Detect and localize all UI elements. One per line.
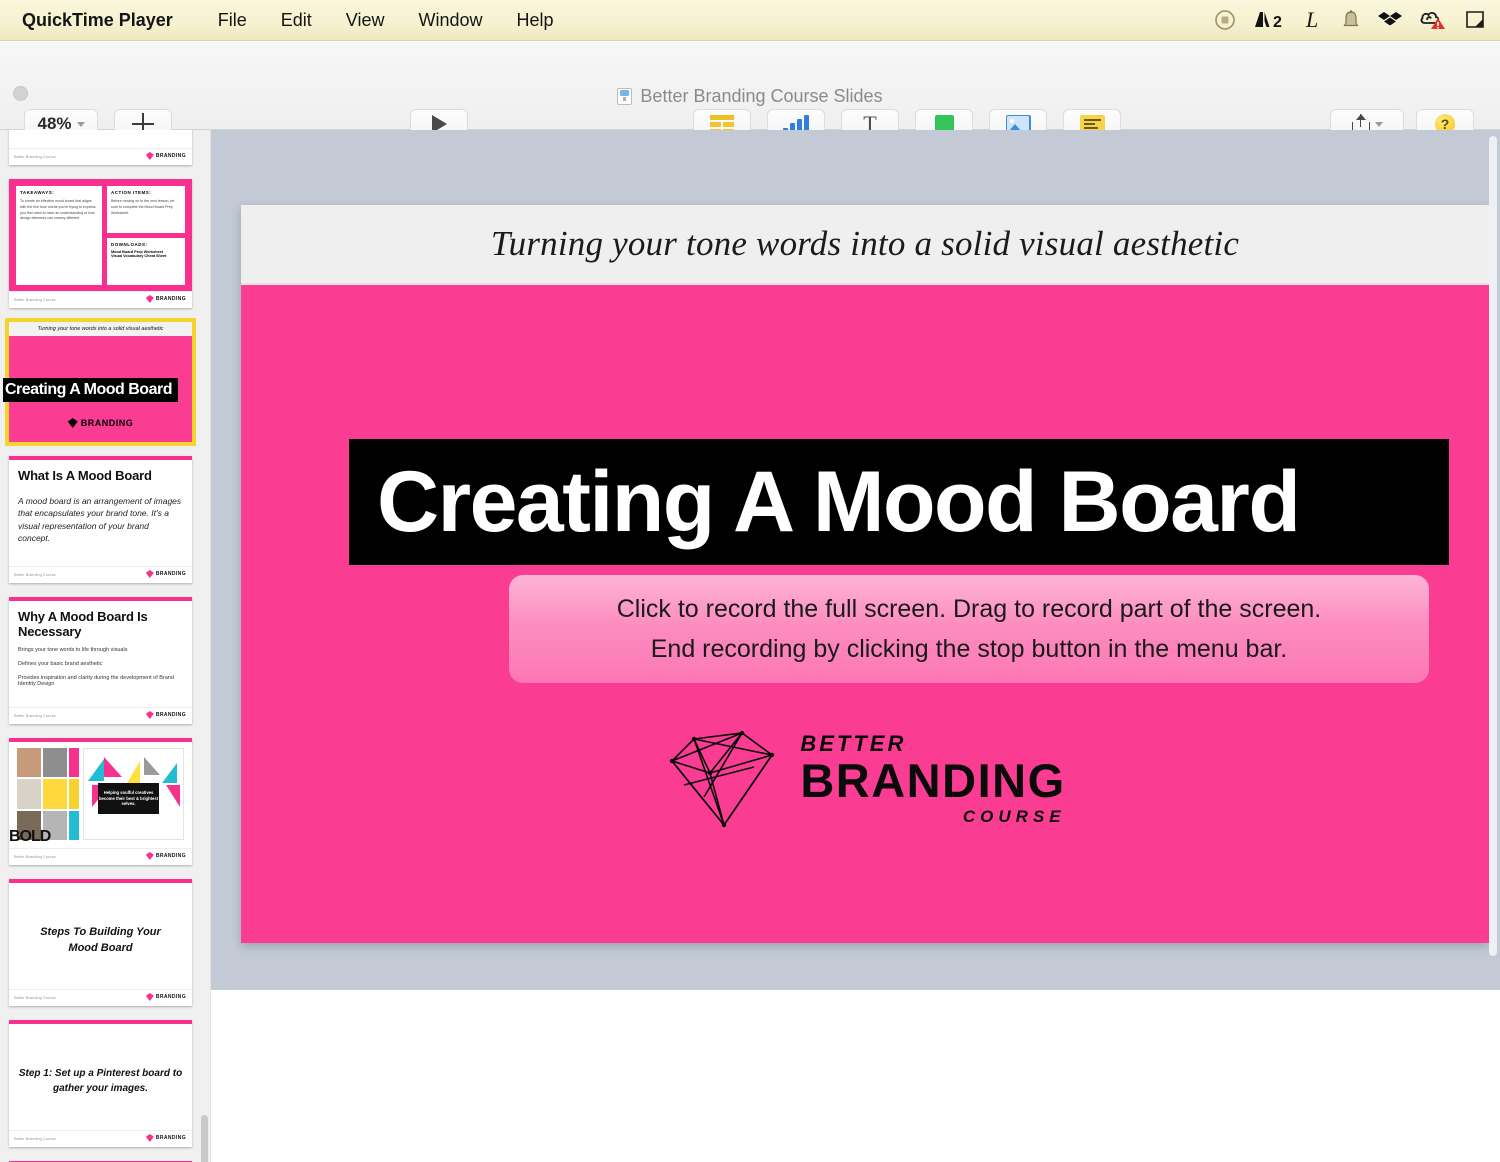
slide-header-text: Turning your tone words into a solid vis… [491,224,1239,264]
quicktime-keynote-screen: QuickTime Player File Edit View Window H… [0,0,1500,1162]
screen-mirroring-icon[interactable] [1464,9,1486,31]
svg-text:2: 2 [1273,14,1282,31]
brand-course: COURSE [963,808,1066,825]
thumb-download-2: Visual Vocabulary Cheat Sheet [111,254,181,258]
thumb-downloads-heading: DOWNLOADS: [111,242,181,247]
slide-thumbnail-why-a-mood-board[interactable]: Why A Mood Board Is Necessary Brings you… [9,597,192,724]
document-title-bar: Better Branding Course Slides [0,83,1500,109]
chevron-down-icon [1375,122,1383,127]
document-title-text: Better Branding Course Slides [640,86,882,107]
slide-thumbnail-mood-board-collage[interactable]: BOLD [9,738,192,865]
macos-menu-bar: QuickTime Player File Edit View Window H… [0,0,1500,41]
thumb-pink-body: Creating A Mood Board BRANDING [9,336,192,442]
lightroom-script-l-icon[interactable]: L [1304,8,1324,32]
brand-better: BETTER [800,733,1065,755]
thumb-footer-note: Better Branding Course [14,154,56,159]
thumb-line-2: Mood Board [68,940,132,957]
slide-pink-body: Creating A Mood Board Click to record th… [241,285,1489,943]
brand-branding: BRANDING [800,757,1065,804]
keynote-document-icon [617,88,632,105]
thumb-takeaways-heading: TAKEAWAYS: [20,190,98,195]
creative-cloud-warning-icon[interactable] [1419,9,1447,31]
slide-canvas[interactable]: Turning your tone words into a solid vis… [210,130,1500,990]
thumb-bullet-list: Brings your tone words to life through v… [18,647,183,687]
collage-badge: Helping soulful creatives become their b… [98,783,159,814]
tooltip-line-2: End recording by clicking the stop butto… [651,631,1288,667]
slide-thumbnail-list: soft neutrals Elegant gentle gold & chan… [0,130,210,1162]
thumb-bullet-2: Defines your basic brand aesthetic [18,661,183,667]
menu-app-name[interactable]: QuickTime Player [22,0,201,41]
thumb-action-heading: ACTION ITEMS: [111,190,181,195]
sidebar-scrollbar[interactable] [201,1115,208,1162]
thumb-brand-logo: BRANDING [146,1134,186,1142]
canvas-bottom-area [210,990,1500,1162]
thumb-body: A mood board is an arrangement of images… [18,495,183,544]
slide-navigator[interactable]: soft neutrals Elegant gentle gold & chan… [0,130,210,1162]
thumb-brand-logo: BRANDING [146,570,186,578]
menu-file[interactable]: File [201,0,264,41]
slide-thumbnail-steps-to-building[interactable]: Steps To Building Your Mood Board Better… [9,879,192,1006]
svg-text:L: L [1305,8,1318,32]
collage-image: BOLD [17,748,184,840]
tooltip-line-1: Click to record the full screen. Drag to… [617,591,1321,627]
slide-thumbnail-creating-a-mood-board[interactable]: Turning your tone words into a solid vis… [9,322,192,442]
thumb-brand-logo: BRANDING [146,295,186,303]
brand-logo: BETTER BRANDING COURSE [241,727,1489,831]
current-slide[interactable]: Turning your tone words into a solid vis… [241,205,1489,943]
slide-thumbnail-takeaways[interactable]: TAKEAWAYS: To create an effective mood b… [9,179,192,308]
thumb-title: What Is A Mood Board [18,468,183,483]
menu-help[interactable]: Help [500,0,571,41]
thumb-brand-logo: BRANDING [146,711,186,719]
thumb-brand-logo: BRANDING [9,418,192,428]
slide-thumbnail-what-is-a-mood-board[interactable]: What Is A Mood Board A mood board is an … [9,456,192,583]
menu-view[interactable]: View [329,0,402,41]
thumb-line-2: gather your images. [53,1081,148,1096]
menu-window[interactable]: Window [402,0,500,41]
canvas-scrollbar[interactable] [1489,136,1497,956]
slide-title-text: Creating A Mood Board [349,459,1299,545]
notifications-bell-icon[interactable] [1341,9,1361,31]
thumb-action-body: Before moving on to the next lesson, be … [111,199,181,216]
menu-edit[interactable]: Edit [264,0,329,41]
slide-thumbnail-table[interactable]: soft neutrals Elegant gentle gold & chan… [9,130,192,165]
slide-header-band: Turning your tone words into a solid vis… [241,205,1489,285]
slide-thumbnail-step-1-pinterest[interactable]: Step 1: Set up a Pinterest board to gath… [9,1020,192,1147]
thumb-bullet-3: Provides inspiration and clarity during … [18,675,183,687]
thumb-title-text: Creating A Mood Board [3,381,172,399]
collage-badge-text: Helping soulful creatives become their b… [98,790,159,807]
screen-recording-tooltip: Click to record the full screen. Drag to… [509,575,1429,683]
thumb-header-text: Turning your tone words into a solid vis… [9,322,192,336]
thumb-title: Why A Mood Board Is Necessary [18,609,183,639]
diamond-logo-icon [664,727,784,831]
thumb-line-1: Steps To Building Your [40,924,161,941]
keynote-toolbar: Better Branding Course Slides 48% Zoom A… [0,41,1500,130]
slide-title-bar: Creating A Mood Board [349,439,1449,565]
thumb-brand-logo: BRANDING [146,152,186,160]
dropbox-icon[interactable] [1378,9,1402,31]
thumb-takeaways-body: To create an effective mood board that a… [20,199,98,222]
thumb-title-bar: Creating A Mood Board [3,378,178,402]
thumb-bullet-1: Brings your tone words to life through v… [18,647,183,653]
chevron-down-icon [77,122,85,127]
menu-bar-status-icons: 2 L [1214,8,1500,32]
collage-word: BOLD [9,828,50,846]
thumb-brand-logo: BRANDING [146,993,186,1001]
screen-recording-stop-icon[interactable] [1214,9,1236,31]
thumb-brand-logo: BRANDING [146,852,186,860]
menu-bar-items: QuickTime Player File Edit View Window H… [0,0,571,41]
thumb-logo-text: BRANDING [81,418,134,428]
adobe-indesign-icon[interactable]: 2 [1253,9,1287,31]
thumb-line-1: Step 1: Set up a Pinterest board to [19,1066,182,1081]
brand-wordmark: BETTER BRANDING COURSE [800,733,1065,825]
